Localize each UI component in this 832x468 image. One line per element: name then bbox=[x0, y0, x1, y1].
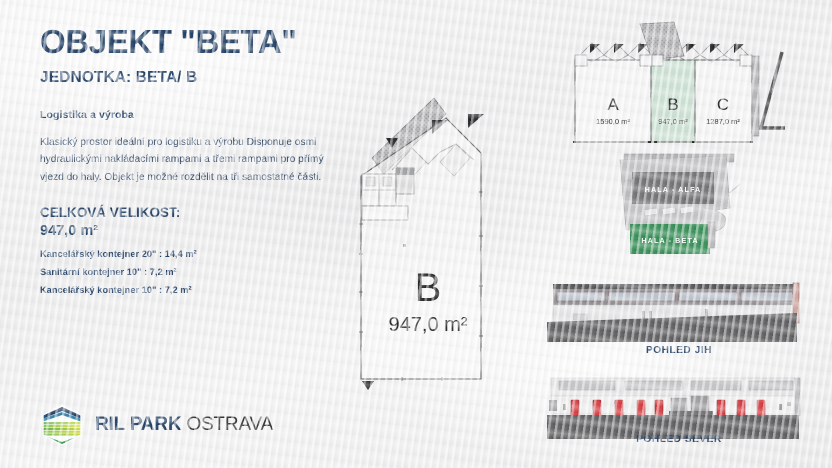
unit-a-area-label: 1590,0 m² bbox=[596, 117, 630, 126]
unit-b-letter: B bbox=[667, 95, 678, 114]
category-label: Logistika a výroba bbox=[40, 109, 360, 121]
unit-subtitle: JEDNOTKA: BETA/ B bbox=[40, 69, 360, 87]
description-text: Klasický prostor ideální pro logistiku a… bbox=[40, 134, 335, 187]
unit-area-label: 947,0 m² bbox=[389, 314, 468, 336]
brand-logo: RIL PARK OSTRAVA bbox=[40, 404, 273, 446]
main-floor-plan: B 947,0 m² bbox=[350, 96, 520, 396]
slide-canvas: OBJEKT "BETA" JEDNOTKA: BETA/ B Logistik… bbox=[0, 0, 832, 468]
hala-alfa-label: HALA - ALFA bbox=[645, 185, 702, 194]
office-containers bbox=[362, 168, 414, 220]
unit-division-plan: A 1590,0 m² B 947,0 m² C 1287,0 m² bbox=[556, 22, 810, 162]
access-road bbox=[761, 52, 785, 128]
text-column: OBJEKT "BETA" JEDNOTKA: BETA/ B Logistik… bbox=[40, 24, 360, 295]
north-corner-pillar bbox=[795, 378, 800, 416]
logo-light-text: OSTRAVA bbox=[186, 414, 273, 435]
logo-bold-text: RIL PARK bbox=[95, 414, 181, 435]
site-plan: HALA - ALFA HALA - BETA bbox=[608, 150, 763, 268]
unit-a-letter: A bbox=[607, 95, 619, 114]
total-size-value: 947,0 m² bbox=[40, 222, 360, 241]
page-title: OBJEKT "BETA" bbox=[40, 24, 360, 60]
unit-letter-label: B bbox=[415, 266, 442, 310]
hala-beta-label: HALA - BETA bbox=[641, 236, 698, 245]
unit-c-area-label: 1287,0 m² bbox=[706, 117, 740, 126]
logo-wordmark: RIL PARK OSTRAVA bbox=[95, 414, 273, 436]
spec-item: Sanitární kontejner 10" : 7,2 m² bbox=[40, 267, 360, 277]
south-window-strip bbox=[557, 292, 793, 301]
unit-c-letter: C bbox=[717, 95, 729, 114]
total-size-label: CELKOVÁ VELIKOST: bbox=[40, 205, 360, 222]
elevation-north-caption: POHLED SEVER bbox=[543, 434, 815, 445]
south-roof-band bbox=[553, 284, 797, 289]
elevation-south-caption: POHLED JIH bbox=[543, 345, 815, 356]
unit-b-area-label: 947,0 m² bbox=[658, 117, 688, 126]
spec-item: Kancelářský kontejner 20" : 14,4 m² bbox=[40, 249, 360, 259]
north-center-structures bbox=[669, 396, 713, 416]
north-window-strip bbox=[559, 381, 793, 390]
elevation-south bbox=[543, 278, 815, 350]
spec-item: Kancelářský kontejner 10" : 7,2 m² bbox=[40, 285, 360, 295]
hexagon-stripes-logo-icon bbox=[40, 404, 84, 446]
column-marker bbox=[403, 244, 406, 247]
